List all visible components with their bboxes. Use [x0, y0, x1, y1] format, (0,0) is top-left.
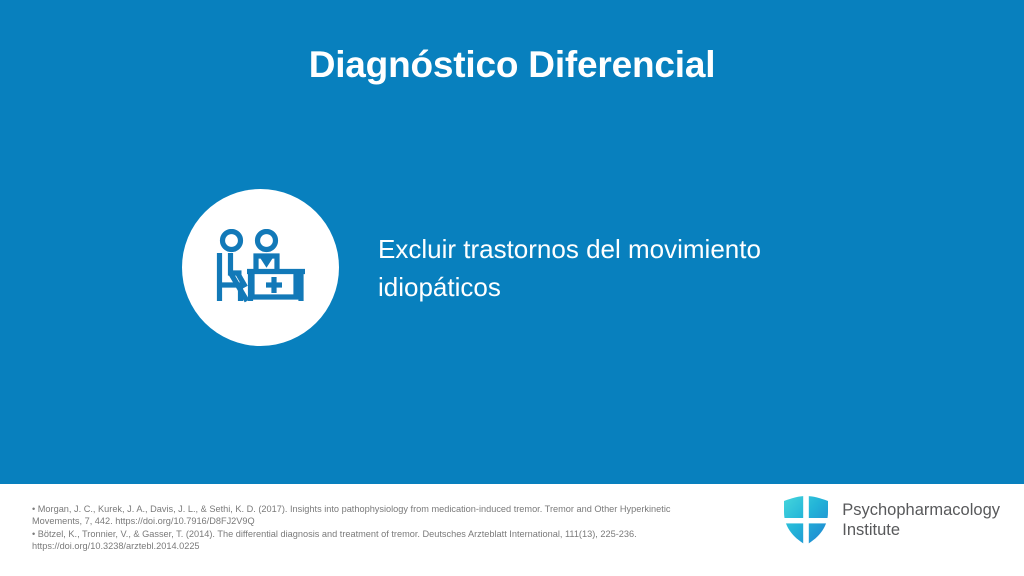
brand-logo: Psychopharmacology Institute — [782, 494, 1000, 546]
body-text-line-2: idiopáticos — [378, 268, 838, 306]
slide-canvas: Diagnóstico Diferencial — [0, 0, 1024, 576]
citation-line: • Morgan, J. C., Kurek, J. A., Davis, J.… — [32, 503, 732, 515]
brand-name-line-2: Institute — [842, 520, 1000, 540]
slide-title: Diagnóstico Diferencial — [0, 42, 1024, 88]
citation-line: • Bötzel, K., Tronnier, V., & Gasser, T.… — [32, 528, 732, 540]
footer-band: • Morgan, J. C., Kurek, J. A., Davis, J.… — [0, 484, 1024, 576]
icon-circle-badge — [182, 189, 339, 346]
brand-name-line-1: Psychopharmacology — [842, 500, 1000, 520]
brand-name: Psychopharmacology Institute — [842, 500, 1000, 540]
shield-logo-icon — [782, 494, 830, 546]
citation-line: https://doi.org/10.3238/arztebl.2014.022… — [32, 540, 732, 552]
citation-line: Movements, 7, 442. https://doi.org/10.79… — [32, 515, 732, 527]
citations-block: • Morgan, J. C., Kurek, J. A., Davis, J.… — [32, 503, 732, 552]
body-text: Excluir trastornos del movimiento idiopá… — [378, 230, 838, 306]
body-text-line-1: Excluir trastornos del movimiento — [378, 230, 838, 268]
